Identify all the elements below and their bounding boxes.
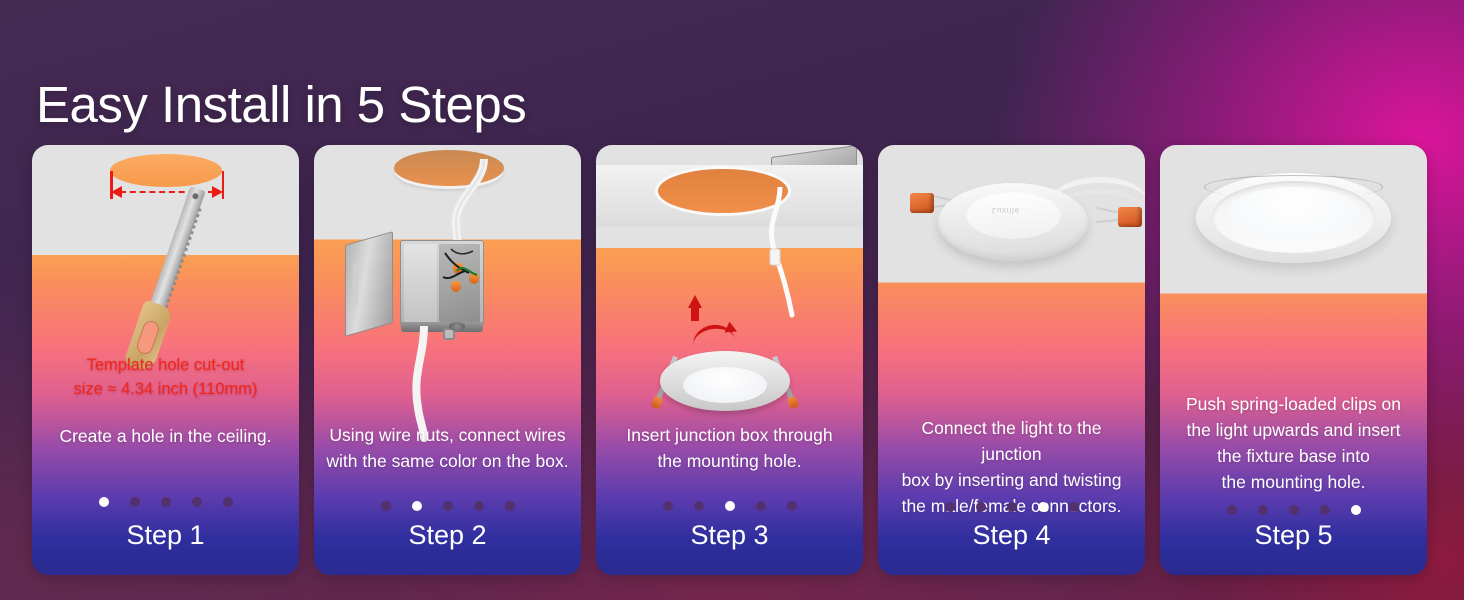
dot-3[interactable]: [1289, 505, 1299, 515]
downlight-fixture-icon: [650, 345, 800, 415]
hand-saw-icon: [123, 184, 213, 373]
step-card-5[interactable]: Push spring-loaded clips on the light up…: [1160, 145, 1427, 575]
dot-4[interactable]: [1320, 505, 1330, 515]
step-5-caption: Push spring-loaded clips on the light up…: [1172, 391, 1415, 495]
junction-box-lid-icon: [345, 231, 393, 337]
step-3-label: Step 3: [596, 519, 863, 551]
step-1-label: Step 1: [32, 519, 299, 551]
dot-3[interactable]: [161, 497, 171, 507]
dot-5[interactable]: [223, 497, 233, 507]
dot-5[interactable]: [505, 501, 515, 511]
dot-1[interactable]: [663, 501, 673, 511]
dot-4[interactable]: [756, 501, 766, 511]
dot-4[interactable]: [474, 501, 484, 511]
dot-2[interactable]: [130, 497, 140, 507]
page-title: Easy Install in 5 Steps: [36, 75, 526, 135]
downlight-fixture-icon: Luxrite: [930, 183, 1100, 267]
step-2-caption: Using wire nuts, connect wires with the …: [326, 422, 569, 474]
dot-2[interactable]: [694, 501, 704, 511]
step-4-dots[interactable]: [878, 502, 1145, 512]
brand-logo-icon: Luxrite: [992, 206, 1020, 215]
dot-2[interactable]: [412, 501, 422, 511]
connector-cable-icon: [764, 187, 824, 367]
dot-4[interactable]: [192, 497, 202, 507]
installed-downlight-icon: [1196, 173, 1391, 263]
step-5-dots[interactable]: [1160, 505, 1427, 515]
step-card-4[interactable]: Luxrite Connect the light to the junctio…: [878, 145, 1145, 575]
step-card-3[interactable]: Insert junction box through the mounting…: [596, 145, 863, 575]
step-1-dots[interactable]: [32, 497, 299, 507]
step-4-illustration: Luxrite: [878, 145, 1145, 445]
dot-2[interactable]: [976, 502, 986, 512]
infographic-root: Easy Install in 5 Steps Template hole cu…: [0, 0, 1464, 600]
step-2-illustration: [314, 145, 581, 445]
twist-arrow-icon: [691, 322, 735, 346]
spring-clip-icon: [1090, 205, 1136, 235]
step-3-illustration: [596, 145, 863, 445]
junction-box-icon: [400, 240, 484, 326]
step-4-label: Step 4: [878, 519, 1145, 551]
wires-icon: [439, 247, 487, 295]
step-5-label: Step 5: [1160, 519, 1427, 551]
dot-2[interactable]: [1258, 505, 1268, 515]
step-3-caption: Insert junction box through the mounting…: [608, 422, 851, 474]
dot-3[interactable]: [443, 501, 453, 511]
dot-1[interactable]: [99, 497, 109, 507]
step-1-caption: Create a hole in the ceiling.: [44, 423, 287, 449]
dot-1[interactable]: [945, 502, 955, 512]
step-2-label: Step 2: [314, 519, 581, 551]
dot-1[interactable]: [381, 501, 391, 511]
dot-5[interactable]: [1351, 505, 1361, 515]
step-3-dots[interactable]: [596, 501, 863, 511]
dot-1[interactable]: [1227, 505, 1237, 515]
up-arrow-icon: [688, 295, 702, 308]
steps-carousel: Template hole cut-out size ≈ 4.34 inch (…: [32, 145, 1432, 575]
step-1-annotation: Template hole cut-out size ≈ 4.34 inch (…: [42, 353, 289, 401]
dot-5[interactable]: [1069, 502, 1079, 512]
step-card-1[interactable]: Template hole cut-out size ≈ 4.34 inch (…: [32, 145, 299, 575]
dot-3[interactable]: [1007, 502, 1017, 512]
step-card-2[interactable]: Using wire nuts, connect wires with the …: [314, 145, 581, 575]
dot-3[interactable]: [725, 501, 735, 511]
dot-5[interactable]: [787, 501, 797, 511]
step-2-dots[interactable]: [314, 501, 581, 511]
dot-4[interactable]: [1038, 502, 1048, 512]
